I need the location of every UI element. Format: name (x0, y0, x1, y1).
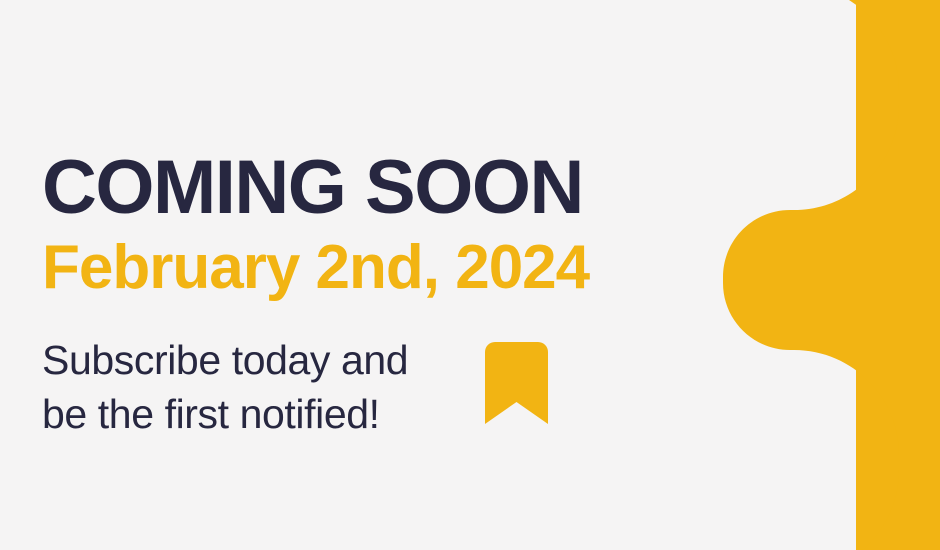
banner-content: COMING SOON February 2nd, 2024 Subscribe… (42, 0, 682, 550)
wave-path (723, 0, 940, 550)
wave-shape-group (726, 0, 940, 550)
subscribe-message-line-2: be the first notified! (42, 387, 482, 441)
wave-edge (723, 0, 940, 550)
wave-lobes (722, 0, 940, 550)
subscribe-message: Subscribe today and be the first notifie… (42, 333, 482, 441)
page-title: COMING SOON (42, 150, 583, 226)
subscribe-message-line-1: Subscribe today and (42, 333, 482, 387)
bookmark-icon (485, 342, 548, 424)
coming-soon-banner: COMING SOON February 2nd, 2024 Subscribe… (0, 0, 940, 550)
launch-date: February 2nd, 2024 (42, 237, 589, 299)
